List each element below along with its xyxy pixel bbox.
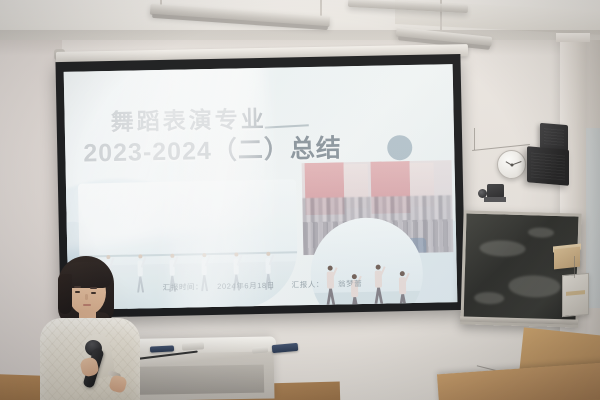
eye-right: [91, 292, 96, 294]
remote-control[interactable]: [150, 345, 174, 352]
cardboard-box: [554, 247, 580, 270]
speaker-wire-vertical: [474, 128, 475, 150]
photo-dance-rehearsal-circle: [310, 217, 424, 310]
classroom-presentation-photo: 舞蹈表演专业 2023-2024（二）总结 汇报时间：2024年6月18日 汇报…: [0, 0, 600, 400]
presenter-label: 汇报人：: [291, 280, 324, 290]
clock-center: [510, 163, 513, 166]
electrical-panel: [562, 273, 589, 317]
speaker-grill: [531, 152, 565, 181]
panel-label: [566, 290, 585, 296]
hair-side: [58, 274, 72, 314]
wall-clock: [497, 150, 526, 179]
chalk-smudge: [479, 240, 525, 257]
column-cap: [556, 33, 590, 42]
projector-glare-streak: [164, 64, 271, 310]
chalk-smudge: [474, 292, 504, 305]
speaker-grill: [544, 128, 564, 146]
presenter: [34, 256, 144, 400]
eyebrow-right: [90, 287, 97, 289]
chalk-smudge: [528, 227, 554, 238]
presenter-value: 翁梦蕾: [338, 279, 362, 288]
wall-speaker-large: [527, 146, 569, 186]
surveillance-camera-mount: [484, 197, 506, 202]
dancer-figure: [397, 269, 409, 310]
eye-left: [75, 291, 80, 293]
eyebrow-left: [74, 286, 81, 288]
surveillance-camera: [487, 184, 504, 198]
nose: [85, 294, 88, 300]
panel-conduit: [574, 256, 575, 278]
chalk-smudge: [508, 275, 561, 298]
